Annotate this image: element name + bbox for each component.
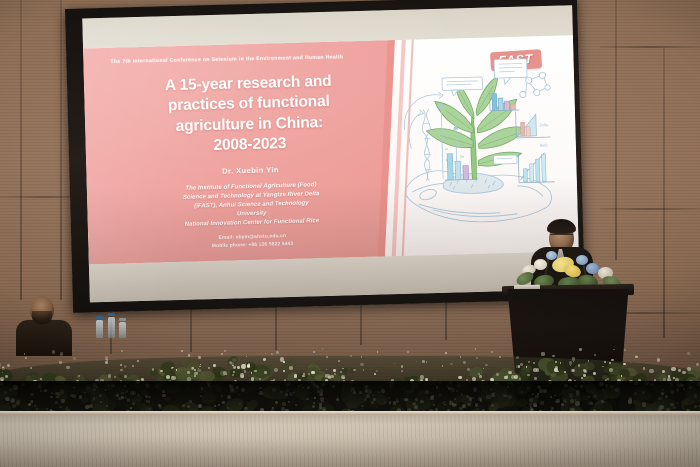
hedge-sprig <box>313 351 315 353</box>
hedge-blossom <box>241 364 245 368</box>
hedge-leaf <box>150 370 158 376</box>
hedge-blossom <box>289 366 293 370</box>
hedge-sprig <box>360 363 363 366</box>
hedge-blossom <box>248 363 250 365</box>
presentation-photo-scene: The 7th International Conference on Sele… <box>0 0 700 467</box>
hedge-blossom <box>609 368 613 372</box>
stage-front <box>0 415 700 467</box>
hedge-blossom <box>160 370 162 372</box>
hedge-blossom <box>208 367 210 369</box>
hedge-sprig <box>460 356 461 357</box>
hedge-sprig <box>137 360 139 362</box>
hedge-blossom <box>607 378 608 379</box>
hedge-sprig <box>52 350 55 353</box>
hedge-sprig <box>516 356 519 359</box>
hedge-blossom <box>333 369 336 372</box>
hedge-sprig <box>401 370 403 372</box>
hedge-sprig <box>105 361 108 364</box>
svg-text:Se: Se <box>459 143 464 147</box>
hedge-blossom <box>263 358 266 361</box>
hedge-sprig <box>555 366 558 369</box>
hedge-sprig <box>73 350 75 352</box>
hedge-blossom <box>342 377 345 380</box>
hedge-blossom <box>583 374 586 377</box>
hedge-blossom <box>459 376 462 379</box>
hedge-sprig <box>573 361 574 362</box>
hedge-sprig <box>602 366 603 367</box>
hedge-blossom <box>479 375 482 378</box>
hedge-sprig <box>221 353 224 356</box>
hedge-blossom <box>682 371 685 374</box>
hedge-sprig <box>696 363 699 366</box>
hedge-blossom <box>247 364 250 367</box>
svg-text:ZnSe: ZnSe <box>539 123 548 127</box>
panelist-beard <box>32 311 52 324</box>
hedge-blossom <box>172 367 174 369</box>
hedge-blossom <box>152 368 154 370</box>
hedge-blossom <box>108 374 112 378</box>
hedge-blossom <box>274 368 278 372</box>
hedge-sprig <box>73 357 76 360</box>
hedge-sprig <box>624 349 626 351</box>
svg-text:N: N <box>445 137 448 141</box>
hedge-sprig <box>322 348 324 350</box>
slide-title: A 15-year research and practices of func… <box>106 70 392 159</box>
hedge-sprig <box>271 353 273 355</box>
hedge-sprig <box>363 369 364 370</box>
hedge-sprig <box>233 366 236 369</box>
hedge-sprig <box>491 351 493 353</box>
hedge-sprig <box>181 350 183 352</box>
hedge-sprig <box>0 363 1 366</box>
hedge-sprig <box>687 352 690 355</box>
presenter-hair <box>547 219 576 234</box>
hedge-sprig <box>132 365 134 367</box>
svg-text:P: P <box>445 148 448 152</box>
hedge-sprig <box>24 353 26 355</box>
hedge-blossom <box>280 357 284 361</box>
svg-text:Zn: Zn <box>460 155 465 159</box>
hedge-blossom <box>649 369 653 373</box>
hedge-sprig <box>499 356 501 358</box>
hedge-blossom <box>668 375 670 377</box>
hedge-blossom <box>254 370 256 372</box>
hedge-sprig <box>422 360 425 363</box>
hedge-sprig <box>450 363 452 365</box>
hedge-blossom <box>509 372 511 374</box>
hedge-blossom <box>264 371 267 374</box>
hedge-sprig <box>25 357 27 359</box>
hedge-sprig <box>657 358 660 361</box>
hedge-blossom <box>244 370 247 373</box>
hedge-sprig <box>265 353 266 354</box>
hedge-blossom <box>330 375 334 379</box>
hedge-sprig <box>407 351 409 353</box>
hedge-blossom <box>194 372 198 376</box>
hedge-sprig <box>338 360 340 362</box>
hedge-blossom <box>687 367 691 371</box>
slide-affiliation: The Institute of Functional Agriculture … <box>109 179 394 232</box>
hedge-sprig <box>579 348 582 351</box>
hedge-sprig <box>361 356 363 358</box>
hedge-blossom <box>533 368 537 372</box>
hedge-sprig <box>7 364 10 367</box>
hedge-sprig <box>230 362 233 365</box>
hedge-sprig <box>66 366 70 370</box>
hedge-blossom <box>420 375 424 379</box>
hedge-sprig <box>541 352 544 355</box>
hand-holding-plant-icon: NPK SeZn <box>377 51 578 242</box>
hedge-leaf <box>550 372 556 376</box>
hedge-sprig <box>276 351 279 354</box>
hedge-sprig <box>377 351 379 353</box>
hedge-sprig <box>475 348 477 350</box>
hedge-sprig <box>594 354 596 356</box>
hedge-blossom <box>294 374 298 378</box>
hedge-blossom <box>374 373 376 375</box>
hedge-sprig <box>467 368 470 371</box>
hedge-sprig <box>350 355 352 357</box>
hedge-blossom <box>311 371 315 375</box>
hedge-blossom <box>283 370 285 372</box>
hedge-blossom <box>527 374 529 376</box>
hedge-blossom <box>555 361 557 363</box>
hedge-sprig <box>613 349 615 351</box>
hedge-sprig <box>224 350 227 353</box>
hedge-sprig <box>635 356 637 358</box>
svg-text:SeO: SeO <box>540 143 548 147</box>
hedge-sprig <box>60 352 63 355</box>
hedge-blossom <box>623 363 625 365</box>
hedge-blossom <box>572 369 575 372</box>
hedge-blossom <box>496 373 498 375</box>
hedge-sprig <box>445 352 446 353</box>
hedge-blossom <box>233 371 234 372</box>
hedge-sprig <box>584 370 587 373</box>
stage-shadow <box>0 381 700 411</box>
hedge-blossom <box>40 378 42 380</box>
glasses-icon <box>550 234 573 239</box>
hedge-blossom <box>611 359 614 362</box>
hedge-sprig <box>401 365 403 367</box>
hedge-sprig <box>552 355 555 358</box>
stage-texture <box>0 415 700 467</box>
hedge-sprig <box>121 350 123 352</box>
